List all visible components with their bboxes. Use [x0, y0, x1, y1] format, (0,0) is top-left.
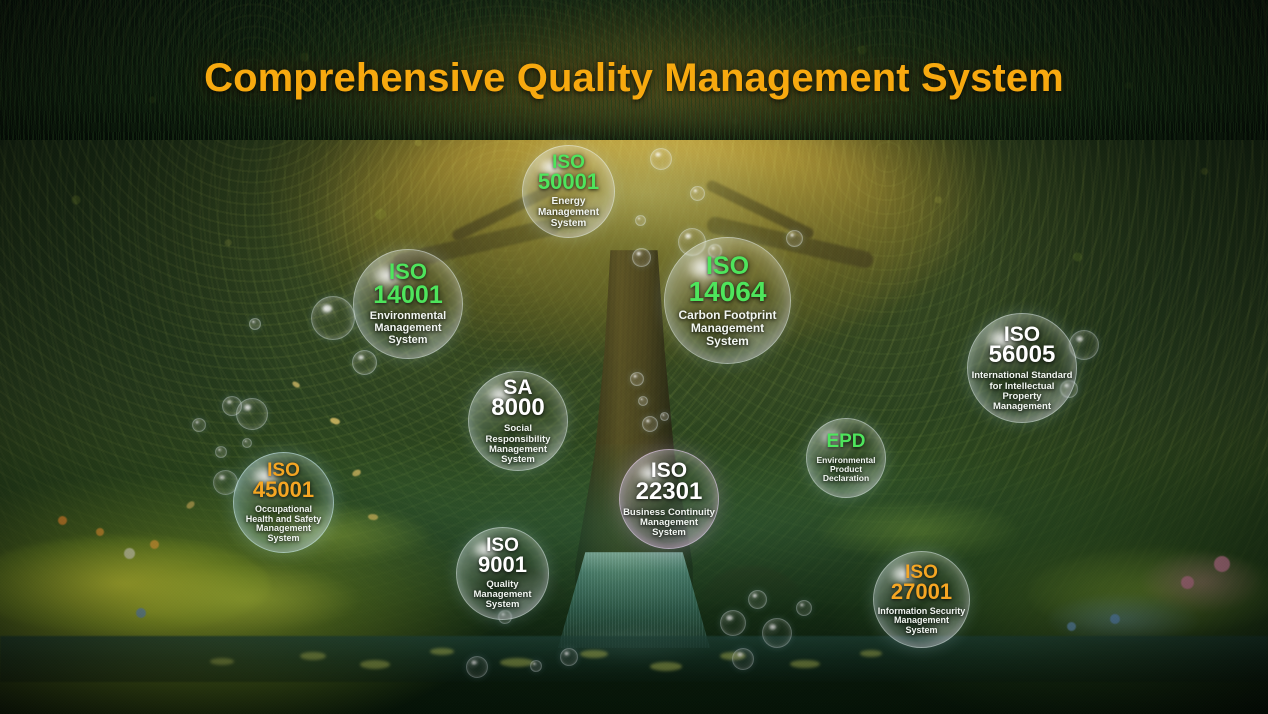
lily-pad: [860, 650, 882, 657]
decorative-bubble: [222, 396, 242, 416]
falling-petal: [329, 416, 341, 426]
decorative-bubble: [650, 148, 672, 170]
bubble-code: EPD: [809, 432, 882, 452]
decorative-bubble: [242, 438, 252, 448]
standard-bubble-epd[interactable]: EPD Environmental Product Declaration: [806, 418, 886, 498]
decorative-bubble: [215, 446, 227, 458]
decorative-bubble: [635, 215, 646, 226]
standard-bubble-iso-50001[interactable]: ISO 50001 Energy Management System: [522, 145, 615, 238]
bubble-number: 56005: [971, 343, 1073, 368]
decorative-bubble: [786, 230, 803, 247]
lily-pad: [430, 648, 454, 655]
bubble-content: SA 8000 Social Responsibility Management…: [472, 377, 564, 466]
bubble-desc-line-3: System: [877, 626, 966, 636]
bubble-desc-line-3: System: [357, 335, 459, 347]
bubble-desc-line-4: System: [237, 534, 330, 544]
lily-pad: [790, 660, 820, 668]
flower-pink-2: [1181, 576, 1194, 589]
lily-pad: [210, 658, 234, 665]
bubble-number: 14001: [357, 282, 459, 308]
page-title: Comprehensive Quality Management System: [0, 56, 1268, 101]
lily-pad: [300, 652, 326, 660]
bubble-content: ISO 22301 Business Continuity Management…: [623, 460, 715, 539]
bubble-content: ISO 14064 Carbon Footprint Management Sy…: [669, 253, 787, 348]
infographic-canvas: Comprehensive Quality Management System …: [0, 0, 1268, 714]
flower-blue-3: [1067, 622, 1076, 631]
lily-pad: [360, 660, 390, 669]
standard-bubble-sa-8000[interactable]: SA 8000 Social Responsibility Management…: [468, 371, 568, 471]
bubble-content: ISO 50001 Energy Management System: [526, 153, 612, 229]
flower-blue-1: [136, 608, 146, 618]
bubble-desc-line-3: System: [460, 600, 546, 610]
decorative-bubble: [748, 590, 767, 609]
decorative-bubble: [642, 416, 658, 432]
lily-pad: [580, 650, 608, 658]
standard-bubble-iso-14001[interactable]: ISO 14001 Environmental Management Syste…: [353, 249, 463, 359]
pond-surface: [0, 636, 1268, 682]
bubble-desc-line-4: Management: [971, 402, 1073, 412]
bubble-number: 22301: [623, 480, 715, 505]
decorative-bubble: [530, 660, 542, 672]
bubble-content: ISO 45001 Occupational Health and Safety…: [237, 461, 330, 544]
lily-pad: [500, 658, 534, 667]
decorative-bubble: [192, 418, 206, 432]
decorative-bubble: [762, 618, 792, 648]
flower-pink-1: [1214, 556, 1230, 572]
decorative-bubble: [732, 648, 754, 670]
bubble-desc-line-3: System: [526, 219, 612, 230]
standard-bubble-iso-22301[interactable]: ISO 22301 Business Continuity Management…: [619, 449, 719, 549]
bubble-desc-line-3: System: [472, 455, 564, 465]
decorative-bubble: [560, 648, 578, 666]
bubble-desc-line-3: System: [669, 335, 787, 348]
bubble-desc-line-1: Social Responsibility: [472, 424, 564, 445]
bubble-desc-line-3: Declaration: [809, 474, 882, 483]
decorative-bubble: [796, 600, 812, 616]
bubble-content: ISO 56005 International Standard for Int…: [971, 324, 1073, 413]
bubble-number: 45001: [237, 479, 330, 502]
bubble-content: ISO 27001 Information Security Managemen…: [877, 563, 966, 636]
flower-patch-left-2: [130, 564, 360, 634]
decorative-bubble: [352, 350, 377, 375]
decorative-bubble: [311, 296, 355, 340]
decorative-bubble: [660, 412, 669, 421]
flower-orange-2: [96, 528, 104, 536]
bubble-content: ISO 14001 Environmental Management Syste…: [357, 261, 459, 347]
bubble-content: ISO 9001 Quality Management System: [460, 536, 546, 610]
standard-bubble-iso-45001[interactable]: ISO 45001 Occupational Health and Safety…: [233, 452, 334, 553]
standard-bubble-iso-14064[interactable]: ISO 14064 Carbon Footprint Management Sy…: [664, 237, 791, 364]
decorative-bubble: [632, 248, 651, 267]
flower-blue-2: [1110, 614, 1120, 624]
bubble-number: 8000: [472, 396, 564, 421]
decorative-bubble: [249, 318, 261, 330]
standard-bubble-iso-9001[interactable]: ISO 9001 Quality Management System: [456, 527, 549, 620]
flower-white-1: [124, 548, 135, 559]
flower-orange-1: [58, 516, 67, 525]
lily-pad: [650, 662, 682, 671]
bubble-desc-line-3: System: [623, 528, 715, 538]
bubble-content: EPD Environmental Product Declaration: [809, 432, 882, 483]
standard-bubble-iso-56005[interactable]: ISO 56005 International Standard for Int…: [967, 313, 1077, 423]
decorative-bubble: [690, 186, 705, 201]
decorative-bubble: [630, 372, 644, 386]
decorative-bubble: [720, 610, 746, 636]
flower-orange-3: [150, 540, 159, 549]
bubble-number: 50001: [526, 171, 612, 194]
bubble-number: 27001: [877, 581, 966, 604]
bubble-number: 9001: [460, 554, 546, 577]
bubble-number: 14064: [669, 277, 787, 306]
decorative-bubble: [638, 396, 648, 406]
standard-bubble-iso-27001[interactable]: ISO 27001 Information Security Managemen…: [873, 551, 970, 648]
decorative-bubble: [466, 656, 488, 678]
